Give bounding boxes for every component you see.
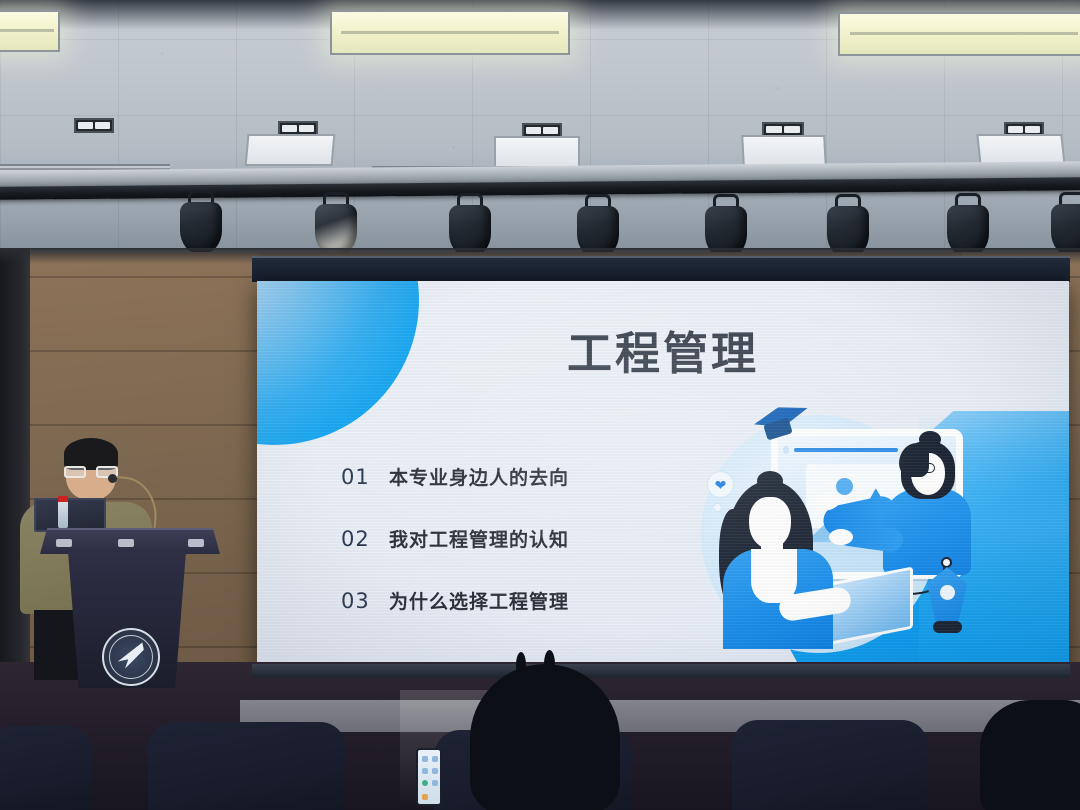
projection-screen: 工程管理 01 本专业身边人的去向 02 我对工程管理的认知 03 为什么选择工… xyxy=(257,281,1069,673)
online-learning-illustration: ❤ xyxy=(687,409,1007,659)
audience-hair-strand xyxy=(544,650,555,678)
lecture-hall-photo: 工程管理 01 本专业身边人的去向 02 我对工程管理的认知 03 为什么选择工… xyxy=(0,0,1080,810)
teacher-glasses-icon xyxy=(909,463,935,473)
podium-control-button[interactable] xyxy=(118,539,134,547)
agenda-item-number: 03 xyxy=(341,589,389,613)
ceiling-diffuser-panel xyxy=(741,135,827,167)
pen-nib-base xyxy=(933,621,962,633)
podium-control-button[interactable] xyxy=(56,539,72,547)
stage-front-edge xyxy=(240,700,1080,732)
audience-seat xyxy=(0,726,92,810)
podium xyxy=(56,528,204,688)
ceiling-vent-icon xyxy=(74,118,114,133)
bubble-icon xyxy=(713,503,722,512)
agenda-item-label: 本专业身边人的去向 xyxy=(389,463,569,490)
university-emblem xyxy=(102,628,160,686)
agenda-item-number: 02 xyxy=(341,527,389,551)
wall-dark-edge xyxy=(0,248,30,722)
agenda-item-label: 为什么选择工程管理 xyxy=(389,587,569,614)
water-bottle[interactable] xyxy=(58,500,68,528)
agenda-list: 01 本专业身边人的去向 02 我对工程管理的认知 03 为什么选择工程管理 xyxy=(341,463,671,649)
audience-person-head xyxy=(980,700,1080,810)
agenda-item-label: 我对工程管理的认知 xyxy=(389,525,569,552)
smartphone-screen[interactable] xyxy=(416,748,442,806)
ceiling-diffuser-panel xyxy=(494,136,580,168)
presentation-slide: 工程管理 01 本专业身边人的去向 02 我对工程管理的认知 03 为什么选择工… xyxy=(257,281,1069,673)
screen-bottom-trim xyxy=(252,664,1070,678)
podium-control-button[interactable] xyxy=(188,539,204,547)
ceiling-light-panel xyxy=(838,12,1080,56)
ceiling xyxy=(0,0,1080,268)
slide-title: 工程管理 xyxy=(257,317,1069,382)
ceiling-light-panel xyxy=(0,10,60,52)
audience-seat xyxy=(732,720,928,810)
agenda-item: 03 为什么选择工程管理 xyxy=(341,587,671,614)
ceiling-light-panel xyxy=(330,10,570,55)
pen-nib-hole xyxy=(940,585,955,600)
podium-laptop[interactable] xyxy=(34,498,106,532)
heart-icon: ❤ xyxy=(707,471,734,498)
student-hair-bun xyxy=(757,471,783,491)
podium-top-surface xyxy=(40,528,220,554)
microphone-head xyxy=(108,474,117,483)
tablet-sidebar-dot xyxy=(783,446,789,454)
agenda-item: 02 我对工程管理的认知 xyxy=(341,525,671,552)
agenda-item: 01 本专业身边人的去向 xyxy=(341,463,671,490)
podium-front-panel xyxy=(60,552,194,688)
teacher-hand xyxy=(829,529,853,545)
audience-hair-strand xyxy=(516,652,526,678)
screen-valance xyxy=(252,256,1070,282)
pen-nib-hook xyxy=(941,557,952,568)
ceiling-diffuser-panel xyxy=(245,134,336,166)
audience-seat xyxy=(148,722,346,810)
agenda-item-number: 01 xyxy=(341,465,389,489)
tablet-header-line xyxy=(794,448,898,452)
water-bottle-cap xyxy=(58,496,68,502)
audience-person-head xyxy=(470,664,620,810)
